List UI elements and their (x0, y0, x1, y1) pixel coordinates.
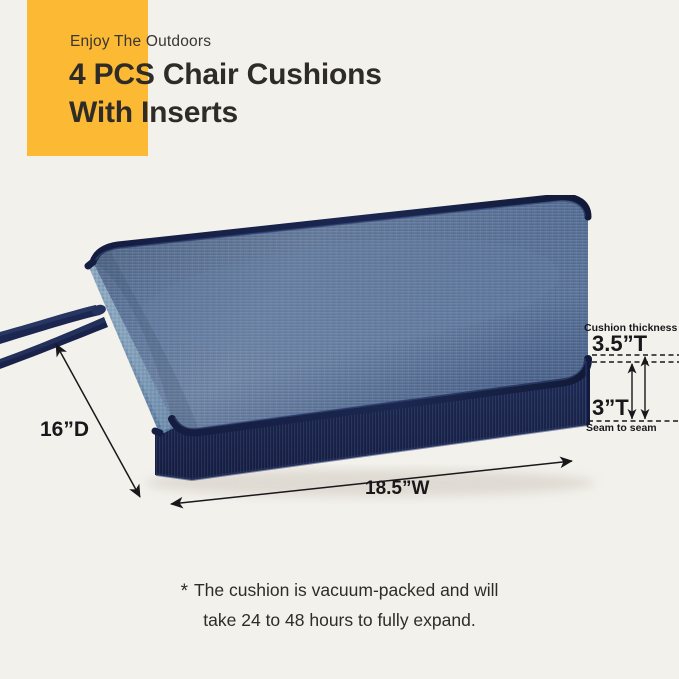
header-eyebrow: Enjoy The Outdoors (70, 33, 211, 51)
thickness-dimension-label: 3.5”T (592, 331, 647, 357)
footnote-line-1: The cushion is vacuum-packed and will (194, 580, 498, 600)
headline-line-1: 4 PCS Chair Cushions (69, 56, 382, 94)
depth-dimension-label: 16”D (40, 418, 89, 442)
cushion-illustration (0, 195, 679, 505)
infographic-canvas: Enjoy The Outdoors 4 PCS Chair Cushions … (0, 0, 679, 679)
header-headline: 4 PCS Chair Cushions With Inserts (69, 56, 382, 132)
piping-left-bottom-corner (155, 431, 160, 433)
width-dimension-label: 18.5”W (365, 478, 429, 500)
seam-dimension-label: 3”T (592, 395, 629, 421)
headline-line-2: With Inserts (69, 94, 382, 132)
footnote-line-2: take 24 to 48 hours to fully expand. (0, 606, 679, 634)
piping-left-corner (88, 262, 93, 266)
footnote-star-icon: * (181, 581, 188, 602)
tie-straps (0, 303, 108, 369)
seam-caption: Seam to seam (586, 422, 657, 434)
footnote: *The cushion is vacuum-packed and will t… (0, 576, 679, 634)
product-image (0, 195, 679, 505)
